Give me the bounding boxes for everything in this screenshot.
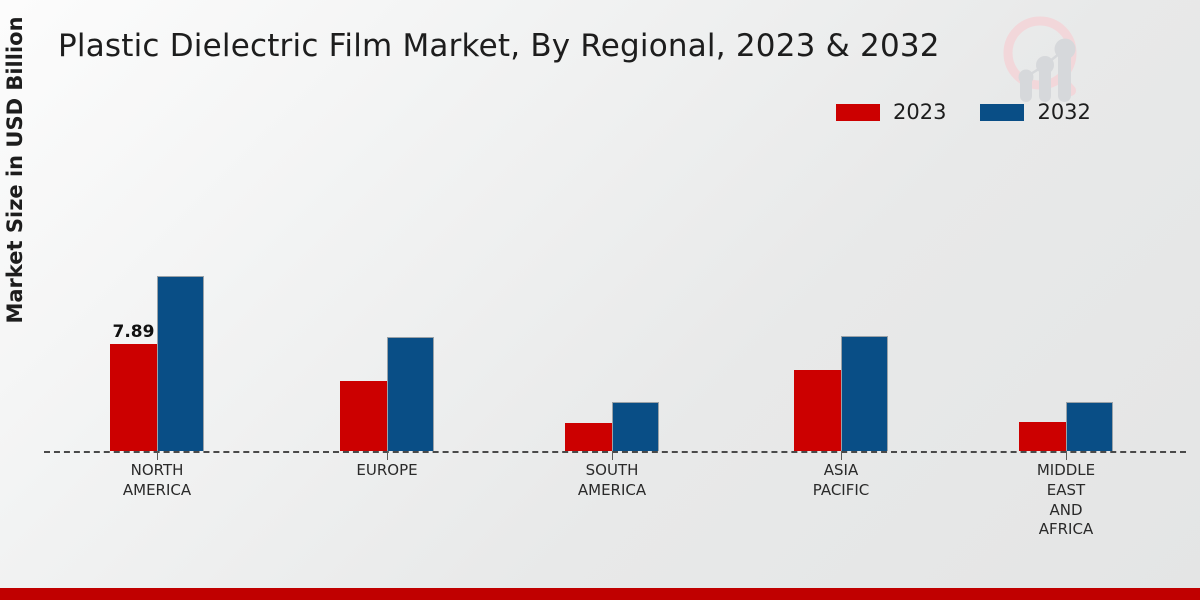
plot-area: 7.89 NORTH AMERICA EUROPE bbox=[0, 0, 1200, 600]
bar-2032[interactable] bbox=[387, 337, 434, 451]
bar-value-label: 7.89 bbox=[113, 322, 155, 342]
bar-2032[interactable] bbox=[157, 276, 204, 451]
x-axis-tick bbox=[157, 451, 158, 460]
bar-2032[interactable] bbox=[612, 402, 659, 451]
bar-2023[interactable] bbox=[794, 370, 841, 451]
x-axis-tick bbox=[841, 451, 842, 460]
bar-2023[interactable] bbox=[340, 381, 387, 451]
x-axis-category-label: SOUTH AMERICA bbox=[517, 461, 707, 501]
bar-2023[interactable] bbox=[1019, 422, 1066, 451]
bar-2023[interactable] bbox=[565, 423, 612, 451]
x-axis-category-label: EUROPE bbox=[292, 461, 482, 481]
bottom-accent-band bbox=[0, 588, 1200, 600]
x-axis-tick bbox=[387, 451, 388, 460]
x-axis-category-label: NORTH AMERICA bbox=[62, 461, 252, 501]
bar-2032[interactable] bbox=[1066, 402, 1113, 451]
x-axis-tick bbox=[1066, 451, 1067, 460]
bar-2032[interactable] bbox=[841, 336, 888, 451]
x-axis-baseline bbox=[44, 451, 1186, 453]
chart-container: Plastic Dielectric Film Market, By Regio… bbox=[0, 0, 1200, 600]
x-axis-tick bbox=[612, 451, 613, 460]
bar-2023[interactable]: 7.89 bbox=[110, 344, 157, 451]
x-axis-category-label: MIDDLE EAST AND AFRICA bbox=[971, 461, 1161, 540]
x-axis-category-label: ASIA PACIFIC bbox=[746, 461, 936, 501]
